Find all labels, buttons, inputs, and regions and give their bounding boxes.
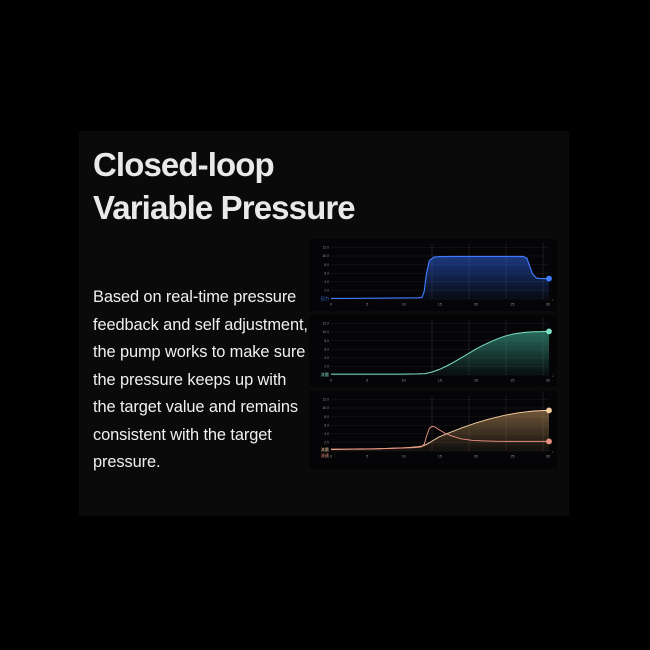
svg-text:0: 0 <box>330 455 332 459</box>
svg-text:10.0: 10.0 <box>322 330 329 334</box>
chart-flow-rate-series-label-2: 流速 <box>321 452 330 459</box>
svg-text:30: 30 <box>546 379 550 383</box>
svg-text:10: 10 <box>402 303 406 307</box>
svg-text:20: 20 <box>474 455 478 459</box>
screenshot-root: Closed-loop Variable Pressure Based on r… <box>0 0 650 650</box>
svg-text:2.0: 2.0 <box>324 441 329 445</box>
feature-card: Closed-loop Variable Pressure Based on r… <box>79 131 569 516</box>
svg-text:4.0: 4.0 <box>324 432 329 436</box>
svg-text:10: 10 <box>402 455 406 459</box>
svg-text:15: 15 <box>438 303 442 307</box>
svg-text:25: 25 <box>511 379 515 383</box>
svg-text:5: 5 <box>366 379 368 383</box>
page-title: Closed-loop Variable Pressure <box>93 143 533 229</box>
svg-text:30: 30 <box>546 455 550 459</box>
svg-text:12.0: 12.0 <box>322 398 329 402</box>
svg-text:30: 30 <box>546 303 550 307</box>
svg-text:0: 0 <box>330 379 332 383</box>
body-paragraph: Based on real-time pressure feedback and… <box>93 284 309 477</box>
headline-line-2: Variable Pressure <box>93 186 533 229</box>
flowrate-rate-endpoint-marker <box>546 439 552 445</box>
chart-flow: 0 5 10 15 20 25 30 2.0 4.0 6.0 8.0 10.0 <box>309 315 557 387</box>
svg-text:20: 20 <box>474 303 478 307</box>
svg-text:6.0: 6.0 <box>324 423 329 427</box>
svg-text:8.0: 8.0 <box>324 263 329 267</box>
chart-flow-rate: 0 5 10 15 20 25 30 2.0 4.0 6.0 8.0 10.0 <box>309 391 557 463</box>
svg-text:12.0: 12.0 <box>322 322 329 326</box>
svg-text:2.0: 2.0 <box>324 289 329 293</box>
pressure-endpoint-marker <box>546 276 552 282</box>
svg-text:10.0: 10.0 <box>322 406 329 410</box>
chart-pressure: 0 5 10 15 20 25 30 2.0 4.0 6.0 8.0 10.0 <box>309 239 557 311</box>
svg-text:8.0: 8.0 <box>324 415 329 419</box>
svg-text:4.0: 4.0 <box>324 280 329 284</box>
chart-flow-series-label: 流量 <box>321 371 329 378</box>
svg-text:25: 25 <box>511 303 515 307</box>
svg-text:5: 5 <box>366 455 368 459</box>
flowrate-volume-endpoint-marker <box>546 408 552 414</box>
headline-line-1: Closed-loop <box>93 143 533 186</box>
svg-text:15: 15 <box>438 379 442 383</box>
svg-text:25: 25 <box>511 455 515 459</box>
svg-text:15: 15 <box>438 455 442 459</box>
svg-text:5: 5 <box>366 303 368 307</box>
svg-text:6.0: 6.0 <box>324 347 329 351</box>
chart-stack: 0 5 10 15 20 25 30 2.0 4.0 6.0 8.0 10.0 <box>309 239 557 473</box>
chart-flow-svg: 0 5 10 15 20 25 30 2.0 4.0 6.0 8.0 10.0 <box>309 315 557 387</box>
chart-pressure-svg: 0 5 10 15 20 25 30 2.0 4.0 6.0 8.0 10.0 <box>309 239 557 311</box>
svg-text:4.0: 4.0 <box>324 356 329 360</box>
chart-flow-rate-svg: 0 5 10 15 20 25 30 2.0 4.0 6.0 8.0 10.0 <box>309 391 557 469</box>
svg-text:20: 20 <box>474 379 478 383</box>
svg-text:10.0: 10.0 <box>322 254 329 258</box>
svg-text:12.0: 12.0 <box>322 246 329 250</box>
svg-text:10: 10 <box>402 379 406 383</box>
svg-text:6.0: 6.0 <box>324 271 329 275</box>
svg-text:8.0: 8.0 <box>324 339 329 343</box>
svg-text:0: 0 <box>330 303 332 307</box>
flow-endpoint-marker <box>546 329 552 335</box>
svg-text:2.0: 2.0 <box>324 365 329 369</box>
chart-pressure-series-label: 压力 <box>321 295 329 302</box>
